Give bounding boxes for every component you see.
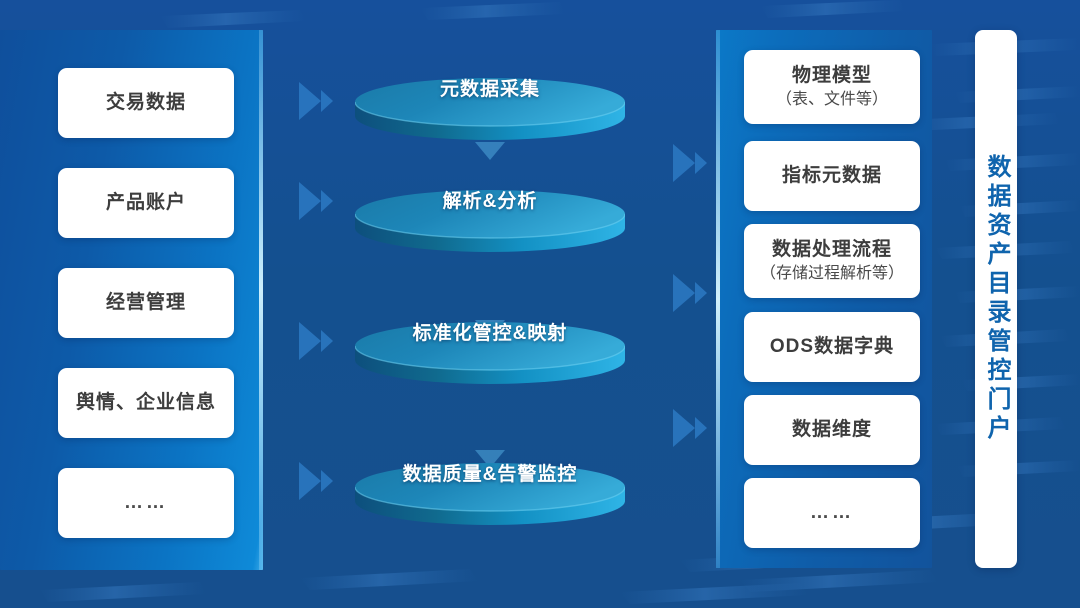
list-item[interactable]: …… — [58, 468, 234, 538]
pipeline-stage[interactable]: 数据质量&告警监控 — [355, 463, 625, 527]
diagram-canvas: 交易数据 产品账户 经营管理 舆情、企业信息 …… — [0, 0, 1080, 608]
pipeline-stage-label: 标准化管控&映射 — [355, 318, 625, 345]
portal-label: 数据资产目录管控门户 — [984, 154, 1008, 444]
pipeline-stage[interactable]: 元数据采集 — [355, 78, 625, 142]
arrow-right-icon — [671, 140, 709, 186]
list-item[interactable]: 交易数据 — [58, 68, 234, 138]
list-item[interactable]: 经营管理 — [58, 268, 234, 338]
pipeline-stage-label: 解析&分析 — [355, 186, 625, 213]
output-title: 数据维度 — [792, 418, 872, 442]
pipeline-stage-label: 数据质量&告警监控 — [355, 459, 625, 486]
source-label-ellipsis: …… — [124, 491, 168, 515]
output-title: 物理模型 — [792, 64, 872, 88]
source-label: 交易数据 — [106, 91, 186, 115]
list-item[interactable]: …… — [744, 478, 920, 548]
output-title: 数据处理流程 — [772, 238, 892, 262]
source-label: 舆情、企业信息 — [76, 391, 216, 415]
output-subtitle: （表、文件等） — [776, 90, 888, 110]
pipeline-stage[interactable]: 解析&分析 — [355, 190, 625, 254]
output-subtitle: （存储过程解析等） — [760, 264, 904, 284]
output-title: ODS数据字典 — [770, 335, 894, 359]
arrow-right-icon — [297, 458, 335, 504]
arrow-right-icon — [297, 178, 335, 224]
arrow-down-icon — [473, 140, 507, 162]
list-item[interactable]: 数据维度 — [744, 395, 920, 465]
list-item[interactable]: ODS数据字典 — [744, 312, 920, 382]
output-title: 指标元数据 — [782, 164, 882, 188]
list-item[interactable]: 产品账户 — [58, 168, 234, 238]
source-label: 产品账户 — [106, 191, 186, 215]
list-item[interactable]: 指标元数据 — [744, 141, 920, 211]
list-item[interactable]: 物理模型 （表、文件等） — [744, 50, 920, 124]
portal-bar[interactable]: 数据资产目录管控门户 — [975, 30, 1017, 568]
output-title-ellipsis: …… — [810, 501, 854, 525]
list-item[interactable]: 舆情、企业信息 — [58, 368, 234, 438]
source-label: 经营管理 — [106, 291, 186, 315]
arrow-right-icon — [671, 405, 709, 451]
arrow-right-icon — [671, 270, 709, 316]
arrow-right-icon — [297, 78, 335, 124]
arrow-right-icon — [297, 318, 335, 364]
list-item[interactable]: 数据处理流程 （存储过程解析等） — [744, 224, 920, 298]
pipeline-stage[interactable]: 标准化管控&映射 — [355, 322, 625, 386]
pipeline-stage-label: 元数据采集 — [355, 74, 625, 101]
